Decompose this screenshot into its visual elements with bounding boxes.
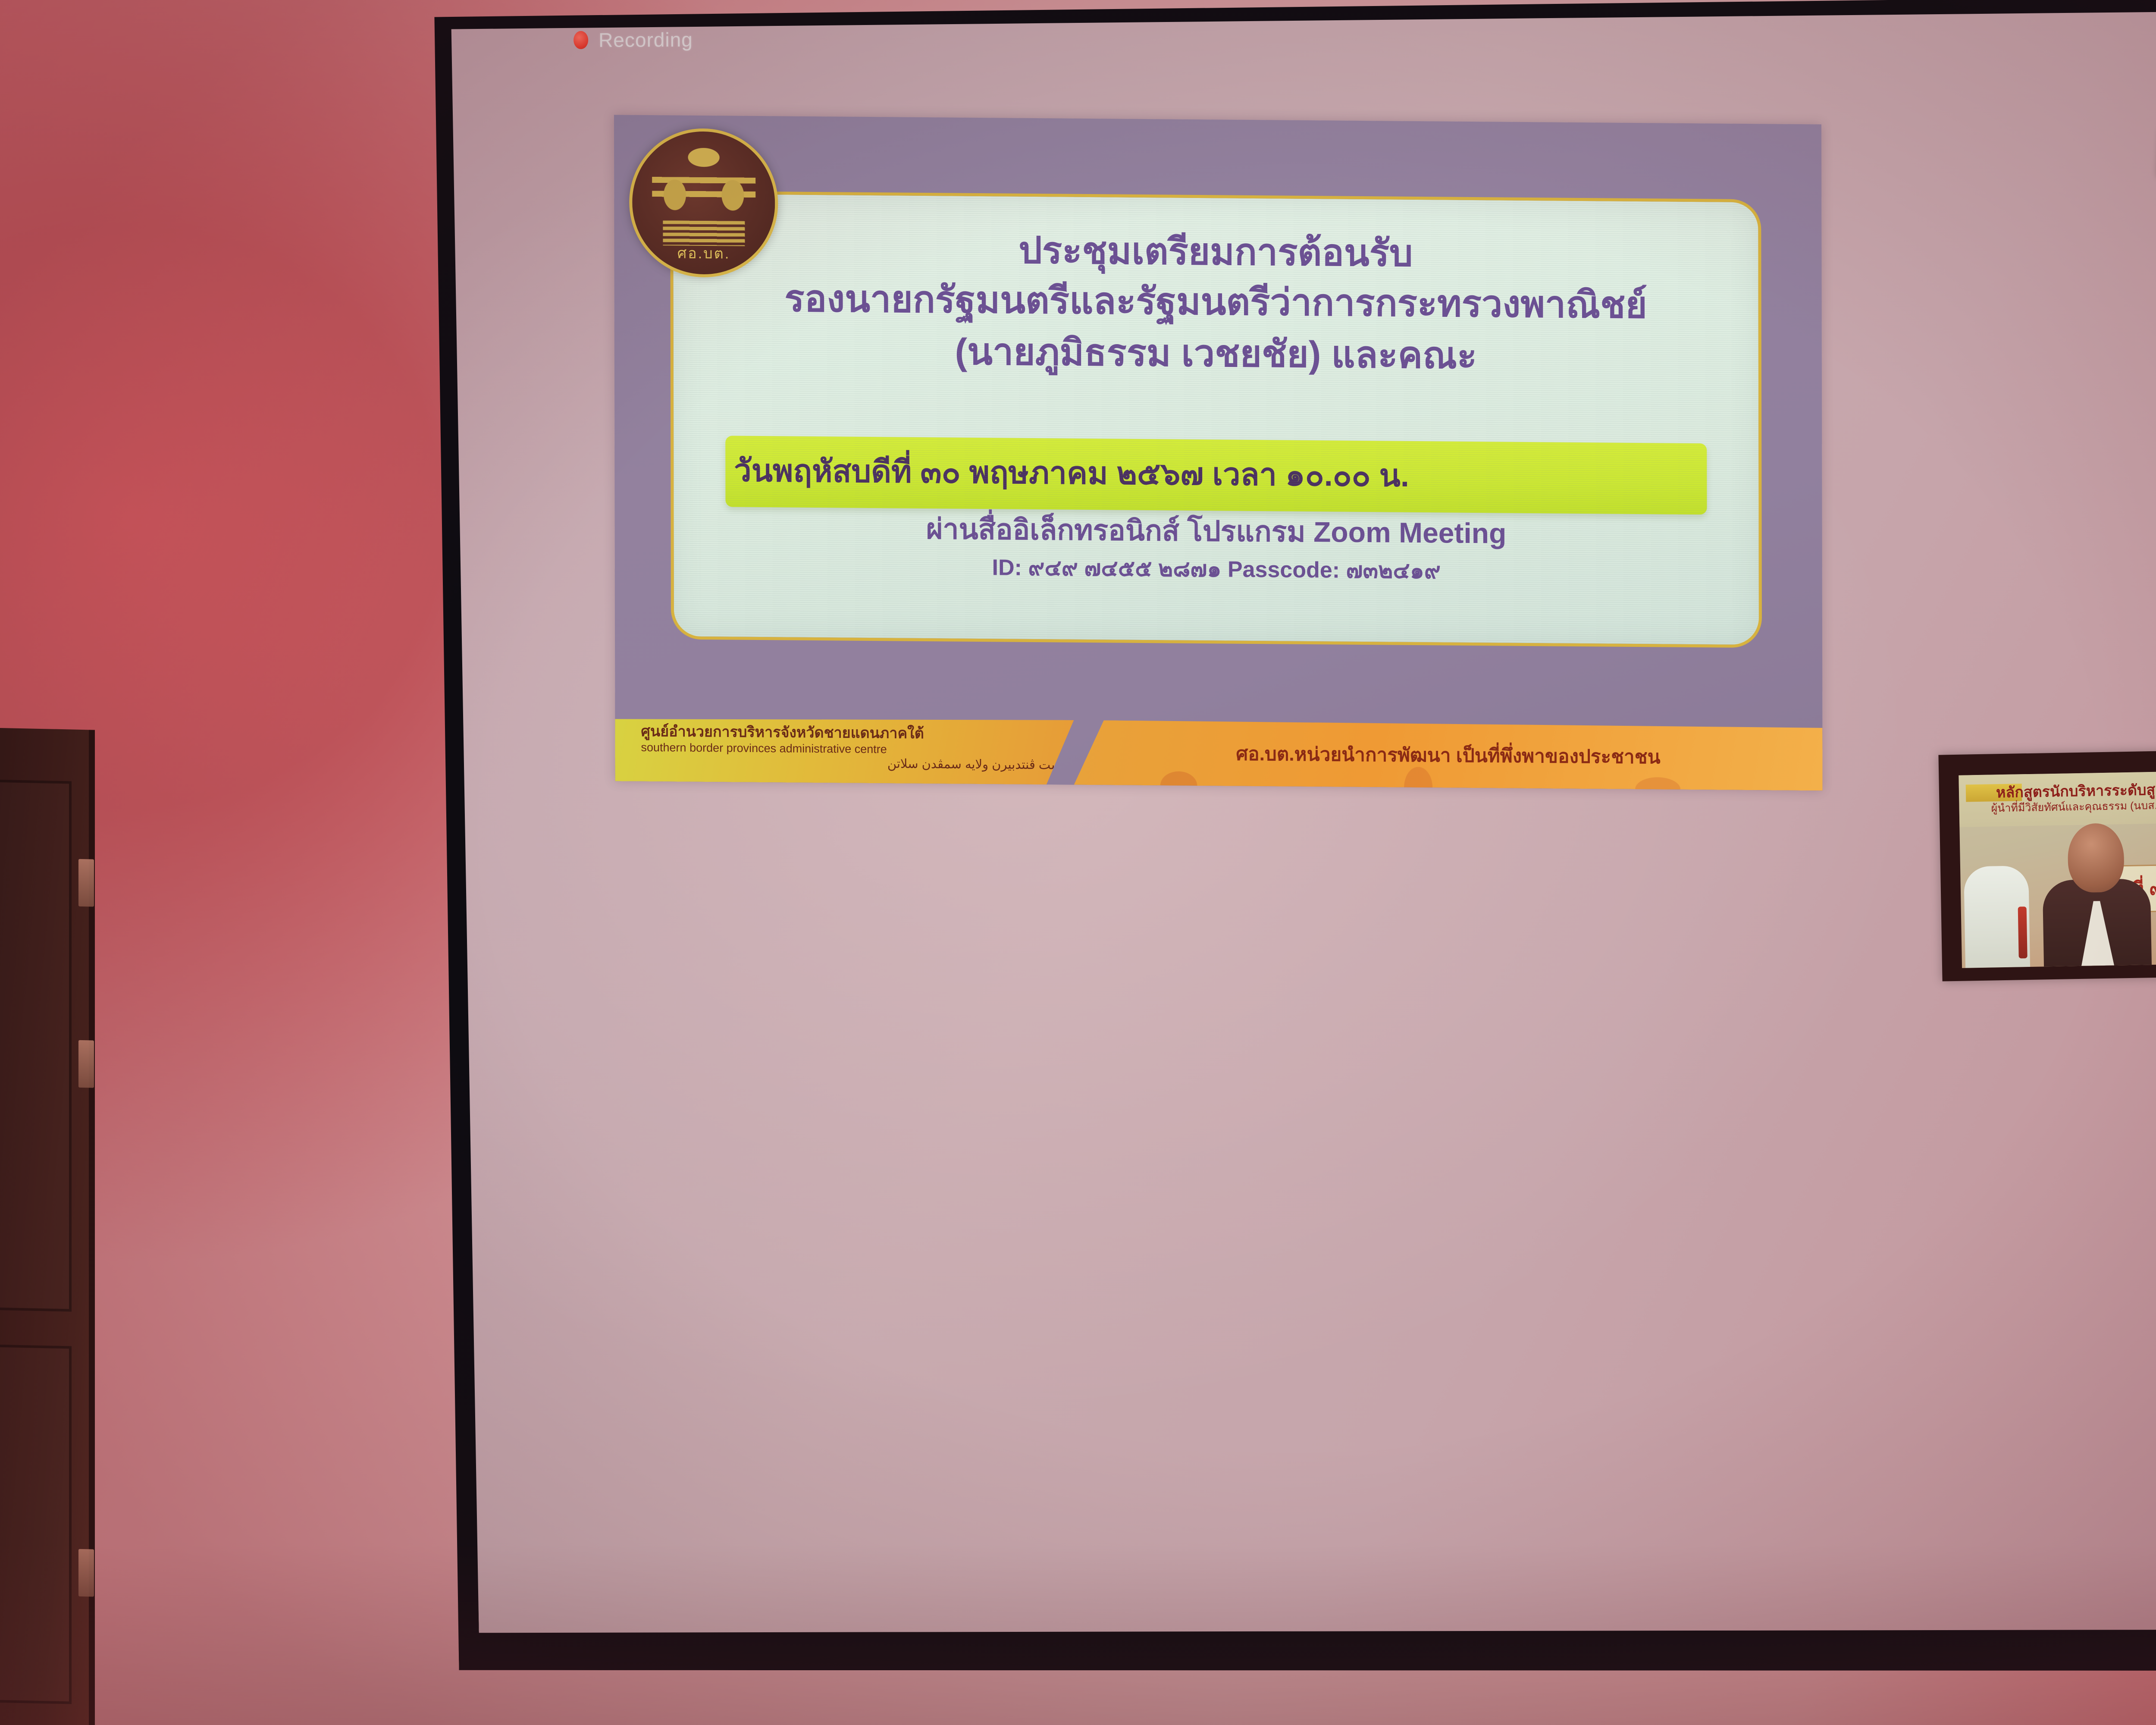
seal-label: ศอ.บต. <box>632 241 775 266</box>
presentation-slide: ศอ.บต. ประชุมเตรียมการต้อนรับ รองนายกรัฐ… <box>614 115 1823 790</box>
footer-org-thai: ศูนย์อำนวยการบริหารจังหวัดชายแดนภาคใต้ <box>641 724 1074 743</box>
door-hinge <box>78 1549 94 1597</box>
slide-footer-tagline-block: ศอ.บต.หน่วยนำการพัฒนา เป็นที่พึ่งพาของปร… <box>1074 720 1822 791</box>
slide-title-line-1: ประชุมเตรียมการต้อนรับ <box>703 224 1728 280</box>
slide-footer-org-block: ศูนย์อำนวยการบริหารจังหวัดชายแดนภาคใต้ s… <box>615 716 1074 784</box>
door-hinge <box>78 1040 94 1088</box>
door-panel-lower <box>0 1345 72 1704</box>
slide-title-block: ประชุมเตรียมการต้อนรับ รองนายกรัฐมนตรีแล… <box>673 224 1758 382</box>
slide-footer: ศูนย์อำนวยการบริหารจังหวัดชายแดนภาคใต้ s… <box>615 716 1822 790</box>
slide-content-card: ประชุมเตรียมการต้อนรับ รองนายกรัฐมนตรีแล… <box>670 191 1762 648</box>
participant-backdrop-banner: หลักสูตรนักบริหารระดับสูง ผู้นำที่มีวิสั… <box>1959 771 2156 827</box>
microphone-icon <box>2018 906 2028 958</box>
participant-shirt <box>2080 901 2114 966</box>
recording-dot-icon <box>573 31 588 49</box>
screen-projection-surface: Recording ศอ.บต. ประชุมเตรียมการต้อนรับ … <box>444 0 2156 1679</box>
footer-org-jawi: ڤوست ڤنتدبيرن ولايه سمڤدن سلاتن <box>641 756 1074 773</box>
participant-video-frame: หลักสูตรนักบริหารระดับสูง ผู้นำที่มีวิสั… <box>1959 771 2156 968</box>
slide-title-line-3: (นายภูมิธรรม เวชยชัย) และคณะ <box>704 326 1728 382</box>
participant-head <box>2067 823 2125 893</box>
door-panel-upper <box>0 780 72 1312</box>
footer-tagline: ศอ.บต.หน่วยนำการพัฒนา เป็นที่พึ่งพาของปร… <box>1236 739 1660 772</box>
slide-title-line-2: รองนายกรัฐมนตรีและรัฐมนตรีว่าการกระทรวงพ… <box>704 274 1728 330</box>
door <box>0 728 95 1725</box>
door-hinge <box>78 859 94 907</box>
participant-figure <box>2033 822 2156 967</box>
footer-org-english: southern border provinces administrative… <box>641 741 1074 758</box>
government-seal-icon: ศอ.บต. <box>629 128 778 278</box>
projector-screen: Recording ศอ.บต. ประชุมเตรียมการต้อนรับ … <box>423 0 2156 1725</box>
date-highlight-banner: วันพฤหัสบดีที่ ๓๐ พฤษภาคม ๒๕๖๗ เวลา ๑๐.๐… <box>725 436 1707 514</box>
recording-indicator: Recording <box>573 28 693 52</box>
date-text: วันพฤหัสบดีที่ ๓๐ พฤษภาคม ๒๕๖๗ เวลา ๑๐.๐… <box>734 445 1698 503</box>
zoom-participant-thumbnail[interactable]: หลักสูตรนักบริหารระดับสูง ผู้นำที่มีวิสั… <box>1938 750 2156 981</box>
recording-label: Recording <box>599 28 693 52</box>
